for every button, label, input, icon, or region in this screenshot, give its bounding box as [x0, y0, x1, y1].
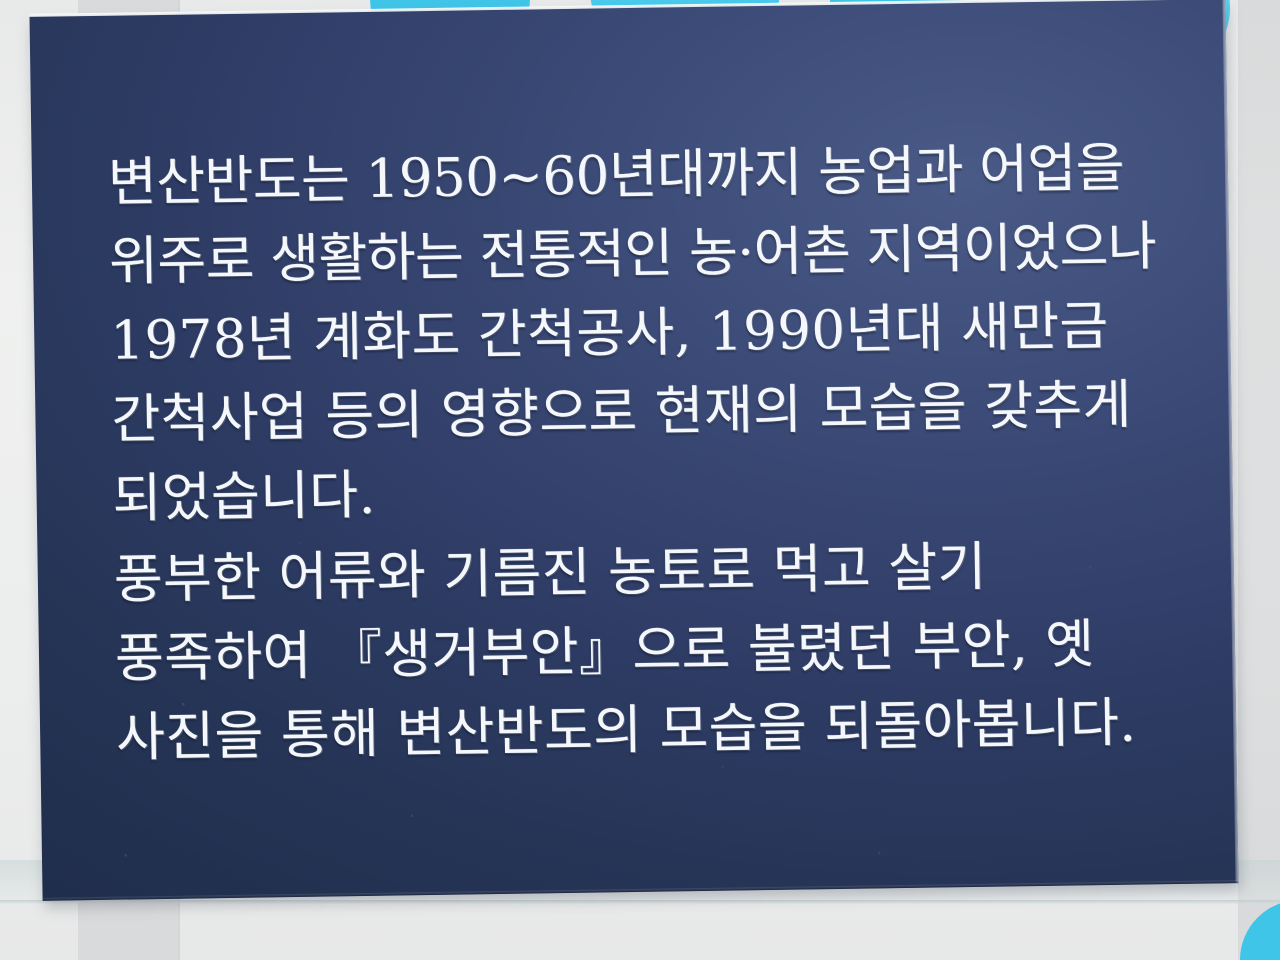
text-line: 사진을 통해 변산반도의 모습을 되돌아봅니다.	[116, 683, 1167, 778]
text-line: 간척사업 등의 영향으로 현재의 모습을 갖추게	[111, 365, 1162, 460]
paragraph-2: 풍부한 어류와 기름진 농토로 먹고 살기 풍족하여 『생거부안』으로 불렸던 …	[113, 525, 1166, 778]
panel-text-block: 변산반도는 1950~60년대까지 농업과 어업을 위주로 생활하는 전통적인 …	[107, 128, 1166, 778]
paragraph-1: 변산반도는 1950~60년대까지 농업과 어업을 위주로 생활하는 전통적인 …	[107, 128, 1163, 539]
exhibition-board: 변산반도는 1950~60년대까지 농업과 어업을 위주로 생활하는 전통적인 …	[30, 0, 1239, 901]
text-line: 되었습니다.	[112, 444, 1163, 539]
board-surface: 변산반도는 1950~60년대까지 농업과 어업을 위주로 생활하는 전통적인 …	[30, 0, 1239, 901]
wall-seam-strip-right	[1238, 0, 1280, 960]
exhibition-panel-photo: 변산반도는 1950~60년대까지 농업과 어업을 위주로 생활하는 전통적인 …	[0, 0, 1280, 960]
